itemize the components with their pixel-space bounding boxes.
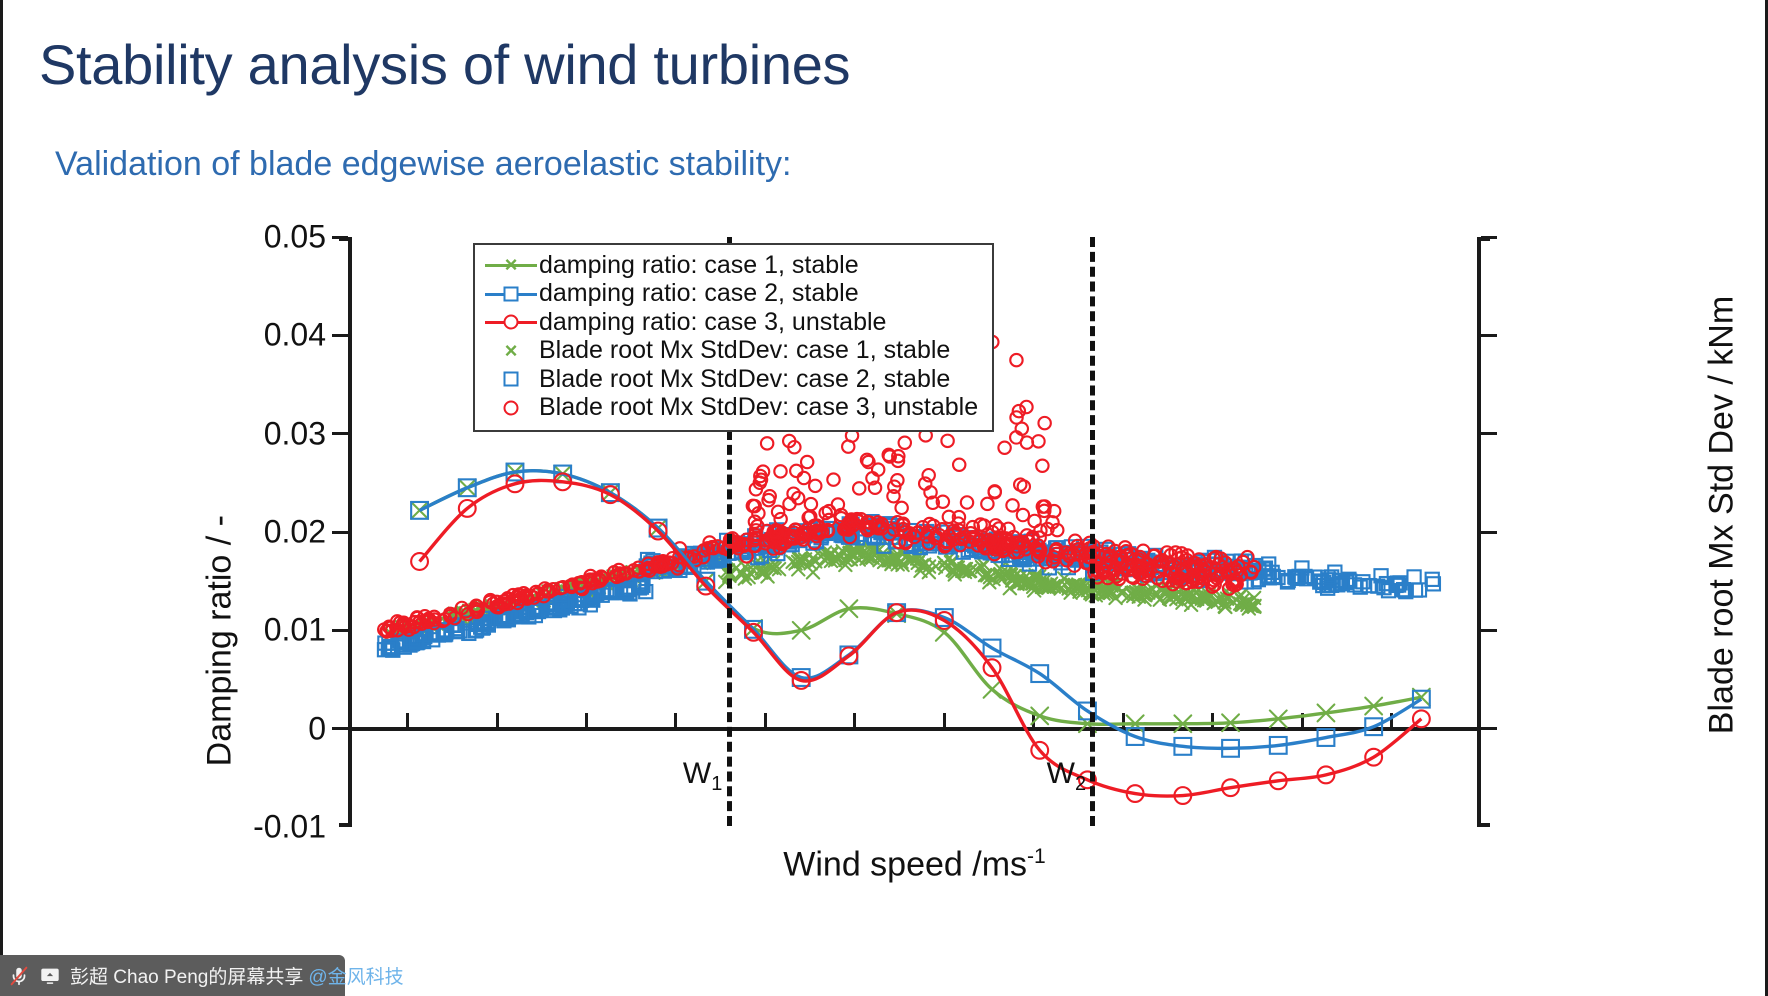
marker-open-circle [998,442,1010,454]
y-tick-label: 0.03 [264,415,326,452]
legend-item[interactable]: ×damping ratio: case 1, stable [485,251,978,280]
x-axis-label: Wind speed /ms-1 [348,845,1481,884]
legend-label: damping ratio: case 3, unstable [539,308,886,337]
marker-open-circle [809,480,821,492]
marker-line-w2 [1090,237,1095,826]
screen-share-icon[interactable] [39,965,61,987]
legend-item[interactable]: Blade root Mx StdDev: case 3, unstable [485,394,978,423]
marker-open-circle [1018,480,1030,492]
marker-open-circle [853,482,865,494]
open-circle-icon [504,400,519,415]
open-circle-icon [504,315,519,330]
slide-subtitle: Validation of blade edgewise aeroelastic… [55,145,791,184]
marker-x-cross [984,681,1001,698]
y-tick-label: 0.01 [264,612,326,649]
x-axis-label-exponent: -1 [1027,845,1046,868]
slide: Stability analysis of wind turbines Vali… [0,0,1768,996]
marker-open-circle [411,553,428,570]
y-tick-label: 0.02 [264,514,326,551]
marker-open-circle [790,465,802,477]
screenshare-label: 彭超 Chao Peng的屏幕共享 [70,962,303,989]
marker-x-cross [1031,707,1048,724]
marker-open-circle [842,440,854,452]
marker-open-circle [798,472,810,484]
marker-open-square [1407,570,1420,583]
open-square-icon [504,286,519,301]
x-cross-icon: × [505,254,518,276]
marker-open-circle [953,459,965,471]
y-tick [332,629,348,632]
y-axis-label-right: Blade root Mx Std Dev / kNm [1703,296,1742,734]
marker-open-square [1413,583,1426,596]
open-square-icon [504,372,519,387]
legend-marker [485,310,537,334]
legend-marker [485,367,537,391]
screenshare-org: @金风科技 [308,962,403,989]
marker-open-circle [801,456,813,468]
marker-open-circle [761,437,773,449]
marker-open-circle [1010,354,1022,366]
legend-label: damping ratio: case 1, stable [539,251,859,280]
plot-area: 0.050.040.030.020.010-0.01 ×damping rati… [348,237,1481,827]
y-tick-right [1481,236,1497,239]
marker-open-circle [1036,460,1048,472]
marker-open-circle [827,473,839,485]
marker-open-circle [895,502,907,514]
y-tick-right [1481,531,1497,534]
y-tick-label: 0 [308,710,326,747]
y-tick-right [1481,629,1497,632]
page-title: Stability analysis of wind turbines [39,36,850,95]
legend-label: Blade root Mx StdDev: case 1, stable [539,336,950,365]
y-tick-right [1481,432,1497,435]
marker-open-circle [899,437,911,449]
y-tick-label-min: -0.01 [253,809,326,846]
legend-label: Blade root Mx StdDev: case 3, unstable [539,393,978,422]
marker-open-circle [1032,435,1044,447]
y-tick-label: 0.05 [264,219,326,256]
marker-x-cross [411,502,428,519]
y-tick [332,727,348,730]
marker-open-circle [961,496,973,508]
legend-item[interactable]: ×Blade root Mx StdDev: case 1, stable [485,337,978,366]
marker-x-cross [807,566,819,578]
legend-marker [485,282,537,306]
x-cross-icon: × [505,340,518,362]
stability-chart: Damping ratio / - Blade root Mx Std Dev … [228,220,1558,870]
y-tick-label: 0.04 [264,317,326,354]
y-tick [332,236,348,239]
marker-open-circle [941,435,953,447]
y-tick [332,334,348,337]
screenshare-taskbar[interactable]: 彭超 Chao Peng的屏幕共享 @金风科技 [0,955,345,996]
marker-open-circle [1006,499,1018,511]
marker-open-circle [772,506,784,518]
y-tick [332,531,348,534]
legend-marker [485,396,537,420]
legend-item[interactable]: Blade root Mx StdDev: case 2, stable [485,365,978,394]
legend-item[interactable]: damping ratio: case 2, stable [485,280,978,309]
legend-label: damping ratio: case 2, stable [539,279,859,308]
marker-label-w2: W2 [1047,757,1086,796]
legend-label: Blade root Mx StdDev: case 2, stable [539,365,950,394]
marker-label-w1: W1 [683,757,722,796]
marker-open-circle [1017,509,1029,521]
marker-open-circle [805,498,817,510]
marker-open-circle [1028,515,1040,527]
y-tick-right [1481,334,1497,337]
chart-legend: ×damping ratio: case 1, stabledamping ra… [473,243,994,432]
microphone-muted-icon[interactable] [8,965,30,987]
x-axis-label-text: Wind speed /ms [783,845,1027,883]
marker-open-circle [774,465,786,477]
marker-open-circle [1038,417,1050,429]
legend-marker: × [485,339,537,363]
legend-marker: × [485,253,537,277]
marker-open-circle [981,498,993,510]
y-tick-right [1481,727,1497,730]
legend-item[interactable]: damping ratio: case 3, unstable [485,308,978,337]
y-tick [332,432,348,435]
y-axis-label-left: Damping ratio / - [201,515,240,766]
